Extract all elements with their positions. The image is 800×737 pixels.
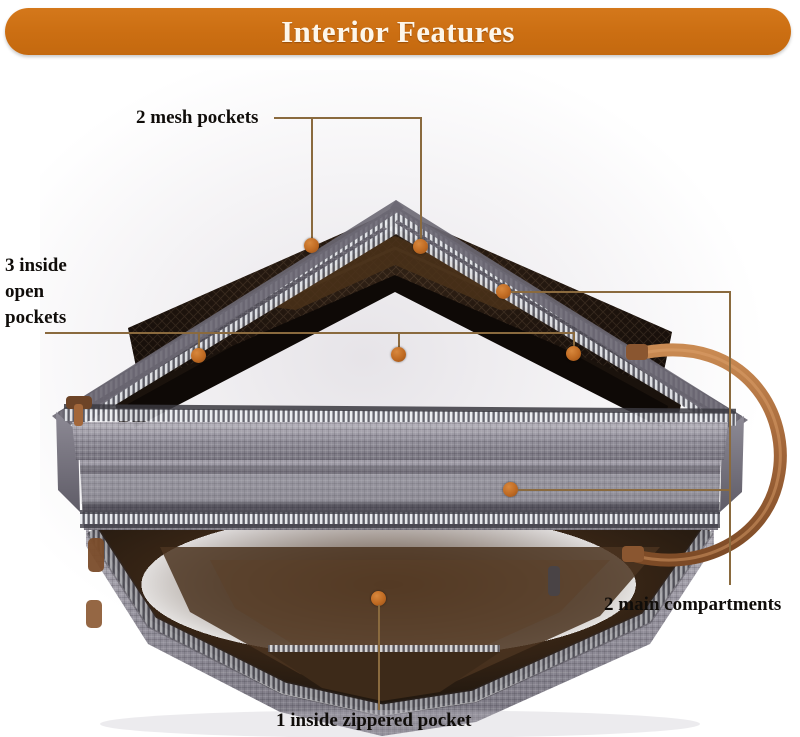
callout-dot-open-2 xyxy=(391,347,406,362)
callout-dot-zippered xyxy=(371,591,386,606)
callout-dot-mesh-1 xyxy=(304,238,319,253)
product-photo: 2 mesh pockets 3 inside open pockets 2 m… xyxy=(0,60,800,737)
toiletry-bag-illustration xyxy=(0,60,800,737)
callout-dot-main-1 xyxy=(496,284,511,299)
callout-label-mesh-pockets: 2 mesh pockets xyxy=(136,105,258,130)
page-title: Interior Features xyxy=(281,14,515,50)
callout-leader-main-v xyxy=(729,291,731,585)
callout-leader-main-h2 xyxy=(518,489,730,491)
callout-label-open-pockets-line1: 3 inside xyxy=(5,253,67,278)
callout-label-open-pockets-line2: open xyxy=(5,279,44,304)
callout-label-main-compartments: 2 main compartments xyxy=(604,592,781,617)
callout-leader-open-h xyxy=(45,332,575,334)
callout-leader-mesh-h xyxy=(274,117,421,119)
callout-label-open-pockets-line3: pockets xyxy=(5,305,66,330)
callout-leader-zippered-v xyxy=(378,605,380,710)
callout-leader-mesh-v1 xyxy=(311,117,313,243)
callout-label-zippered-pocket: 1 inside zippered pocket xyxy=(276,708,471,733)
callout-dot-main-2 xyxy=(503,482,518,497)
header-banner: Interior Features xyxy=(5,8,791,55)
callout-dot-open-1 xyxy=(191,348,206,363)
callout-dot-open-3 xyxy=(566,346,581,361)
callout-dot-mesh-2 xyxy=(413,239,428,254)
callout-leader-main-h1 xyxy=(511,291,730,293)
callout-leader-mesh-v2 xyxy=(420,117,422,244)
